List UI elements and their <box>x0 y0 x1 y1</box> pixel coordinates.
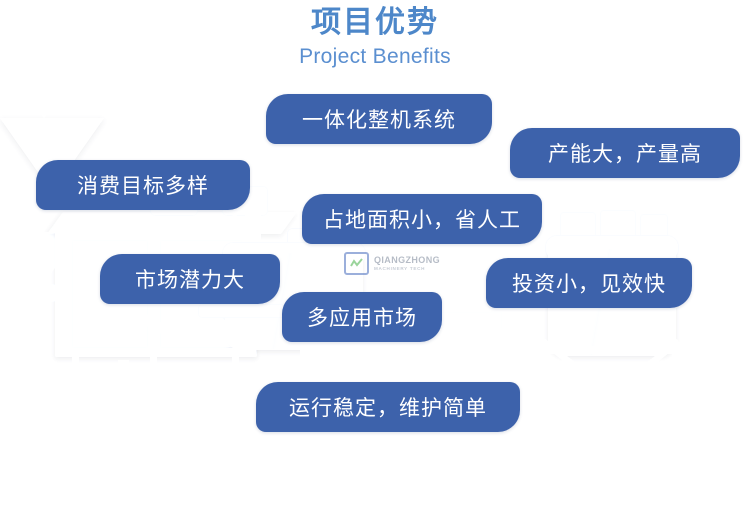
page-heading: 项目优势 Project Benefits <box>0 6 750 69</box>
benefit-badge-small-footprint[interactable]: 占地面积小，省人工 <box>302 194 542 244</box>
stair-rail-left <box>288 474 296 492</box>
logo-text: QIANGZHONG MACHINERY TECH <box>374 256 440 272</box>
benefit-badge-stable-operation[interactable]: 运行稳定，维护简单 <box>256 382 520 432</box>
tank-frame-leg-right <box>672 350 681 500</box>
brand-logo: QIANGZHONG MACHINERY TECH <box>344 252 440 275</box>
benefit-badge-market-potential[interactable]: 市场潜力大 <box>100 254 280 304</box>
page-title: 项目优势 <box>0 6 750 41</box>
logo-subtitle: MACHINERY TECH <box>374 267 440 272</box>
benefit-badge-diverse-targets[interactable]: 消费目标多样 <box>36 160 250 210</box>
cabinet-foot <box>146 382 162 388</box>
project-benefits-banner: QIANGZHONG MACHINERY TECH 项目优势 Project B… <box>0 0 750 513</box>
benefit-badge-low-investment[interactable]: 投资小，见效快 <box>486 258 692 308</box>
cabinet-leg <box>232 355 239 383</box>
cabinet-foot <box>68 382 84 388</box>
logo-name: QIANGZHONG <box>374 256 440 265</box>
tank-frame-leg-left <box>540 350 549 500</box>
pipe-vertical-left <box>118 360 129 416</box>
benefit-badge-multi-application[interactable]: 多应用市场 <box>282 292 442 342</box>
benefit-badge-high-capacity[interactable]: 产能大，产量高 <box>510 128 740 178</box>
cabinet-leg <box>150 355 157 383</box>
cabinet-leg <box>72 355 79 383</box>
page-subtitle: Project Benefits <box>0 45 750 69</box>
tank-frame-cross-bar <box>540 412 682 419</box>
stair-platform <box>285 498 475 513</box>
logo-mark-icon <box>344 252 369 275</box>
cabinet-foot <box>228 382 244 388</box>
stair-rail-right <box>464 474 472 492</box>
benefit-badge-integrated-system[interactable]: 一体化整机系统 <box>266 94 492 144</box>
pipe-elbow <box>0 192 40 232</box>
vessel-cone <box>0 60 88 118</box>
